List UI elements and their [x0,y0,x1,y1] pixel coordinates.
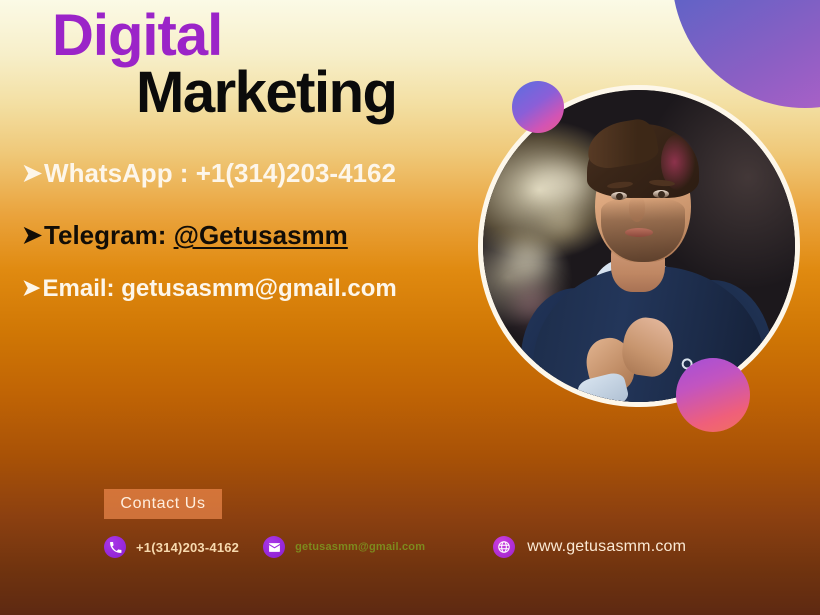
title-word-digital: Digital [52,7,222,65]
contact-line-telegram: ➤Telegram: @Getusasmm [22,222,348,249]
footer-item-phone[interactable]: +1(314)203-4162 [104,534,239,560]
contact-value-email: getusasmm@gmail.com [121,275,396,302]
contact-label-whatsapp: WhatsApp : [44,158,196,188]
bokeh-light [531,166,589,200]
figure-pupil-right [658,191,665,198]
footer-email-text: getusasmm@gmail.com [295,541,425,553]
arrow-bullet-icon: ➤ [22,224,42,248]
figure-nose [629,196,645,222]
footer-contact-row: +1(314)203-4162 getusasmm@gmail.com www.… [104,534,686,560]
globe-icon [493,536,515,558]
telegram-handle-link[interactable]: @Getusasmm [174,220,348,250]
decorative-circle-medium [676,358,750,432]
marketing-banner: Digital Marketing ➤WhatsApp : +1(314)203… [0,0,820,615]
title-word-marketing: Marketing [136,64,396,122]
contact-label-telegram: Telegram: [44,220,174,250]
footer-phone-text: +1(314)203-4162 [136,540,239,555]
footer-item-email[interactable]: getusasmm@gmail.com [263,534,425,560]
mail-icon [263,536,285,558]
phone-icon [104,536,126,558]
arrow-bullet-icon: ➤ [22,277,41,299]
contact-label-email: Email: [43,275,122,302]
portrait-photo [483,90,795,402]
arrow-bullet-icon: ➤ [22,162,42,186]
bokeh-light [545,208,579,238]
contact-line-whatsapp: ➤WhatsApp : +1(314)203-4162 [22,160,396,187]
portrait-avatar [478,85,800,407]
bokeh-light [505,240,551,280]
contact-line-email: ➤Email: getusasmm@gmail.com [22,277,397,301]
contact-value-whatsapp: +1(314)203-4162 [196,158,396,188]
footer-item-website[interactable]: www.getusasmm.com [493,534,686,560]
figure-mouth [625,228,653,237]
footer-website-text: www.getusasmm.com [527,538,686,556]
figure-pupil-left [616,193,623,200]
contact-us-button[interactable]: Contact Us [104,489,222,519]
decorative-circle-small [512,81,564,133]
